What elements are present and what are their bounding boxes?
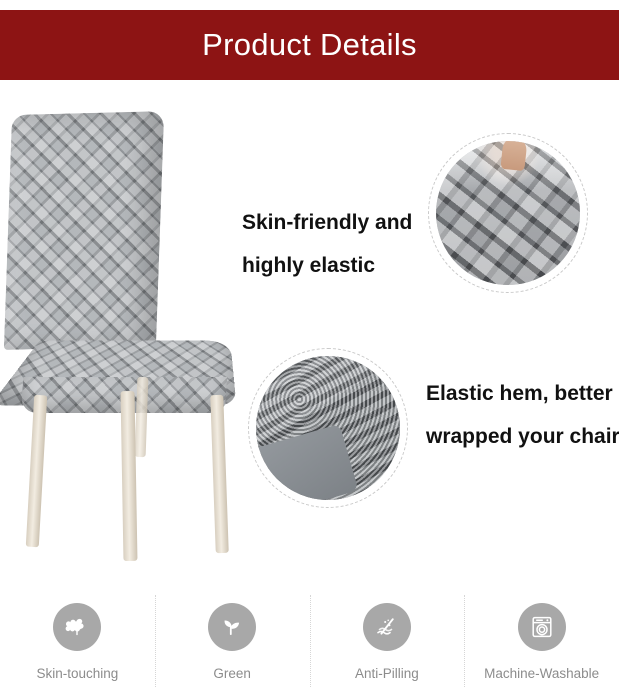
callout-skin-friendly: Skin-friendly and highly elastic (242, 201, 412, 287)
callout-elastic-hem-line2: wrapped your chair (426, 415, 619, 458)
feature-badges-row: Skin-touching Green Anti- (0, 585, 619, 700)
chair-leg-back-right (135, 377, 149, 457)
chair-leg-front-right (210, 395, 229, 553)
feature-label: Skin-touching (36, 666, 118, 681)
feature-label: Anti-Pilling (355, 666, 419, 681)
chair-product-image (0, 95, 250, 495)
callout-elastic-hem-line1: Elastic hem, better (426, 372, 619, 415)
callout-elastic-hem: Elastic hem, better wrapped your chair (426, 372, 619, 458)
hem-closeup-photo (256, 356, 400, 500)
chair-leg-front-left (26, 395, 47, 547)
washing-machine-icon (518, 603, 566, 651)
feature-skin-touching: Skin-touching (0, 585, 155, 700)
detail-image-stretch-fabric (428, 133, 588, 293)
chair-backrest (4, 111, 164, 350)
feature-label: Machine-Washable (484, 666, 599, 681)
pinching-fingers (501, 141, 529, 171)
page-title: Product Details (202, 27, 417, 63)
hem-underside (256, 424, 359, 500)
feature-green: Green (155, 585, 310, 700)
cotton-boll-icon (53, 603, 101, 651)
product-details-page: Product Details Skin-friendly and highly… (0, 0, 619, 700)
chair-leg-back-left (121, 391, 138, 561)
anti-pilling-icon (363, 603, 411, 651)
callout-skin-friendly-line1: Skin-friendly and (242, 201, 412, 244)
page-header-banner: Product Details (0, 10, 619, 80)
feature-anti-pilling: Anti-Pilling (310, 585, 465, 700)
callout-skin-friendly-line2: highly elastic (242, 244, 412, 287)
detail-image-elastic-hem (248, 348, 408, 508)
feature-label: Green (213, 666, 251, 681)
feature-machine-washable: Machine-Washable (464, 585, 619, 700)
sprout-leaf-icon (208, 603, 256, 651)
